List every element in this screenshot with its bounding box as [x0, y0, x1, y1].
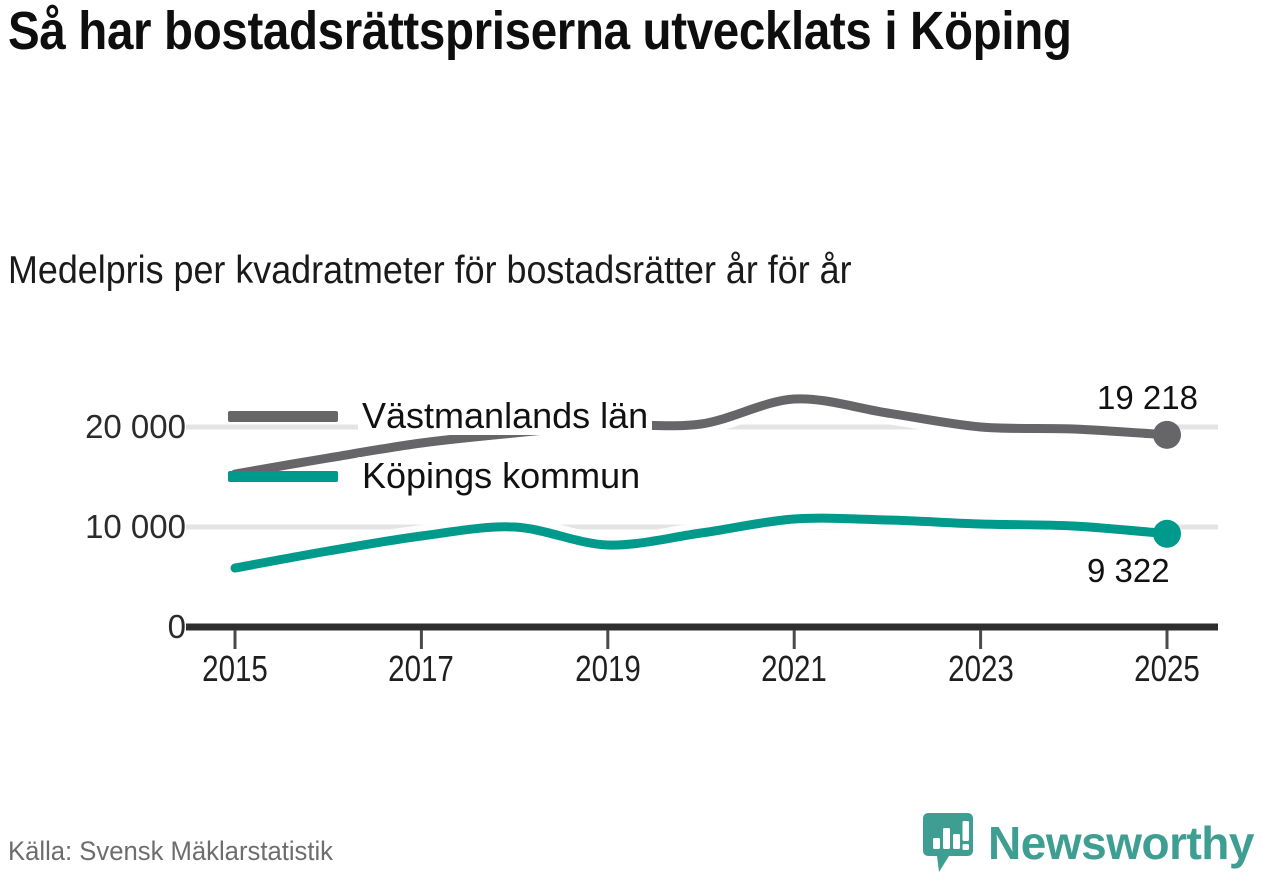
- end-marker-kopings-kommun: [1153, 520, 1181, 548]
- source-note: Källa: Svensk Mäklarstatistik: [8, 836, 333, 867]
- line-chart-svg: [0, 355, 1262, 715]
- brand-logo: Newsworthy: [922, 812, 1254, 874]
- newsworthy-mark-icon: [922, 812, 974, 874]
- series-end-markers: [1153, 421, 1181, 548]
- gridlines: [186, 427, 1218, 527]
- chart-subtitle: Medelpris per kvadratmeter för bostadsrä…: [8, 250, 1149, 293]
- value-label-kopings-kommun: 9 322: [1085, 552, 1172, 590]
- page-title: Så har bostadsrättspriserna utvecklats i…: [8, 4, 1090, 59]
- chart-card: Så har bostadsrättspriserna utvecklats i…: [0, 0, 1262, 879]
- plot-area: [0, 355, 1262, 715]
- end-marker-vastmanlands-lan: [1153, 421, 1181, 449]
- series-halo-vastmanlands-lan: [235, 399, 1167, 474]
- brand-wordmark: Newsworthy: [988, 820, 1254, 866]
- x-axis: [186, 627, 1218, 649]
- value-label-vastmanlands-lan: 19 218: [1095, 379, 1200, 417]
